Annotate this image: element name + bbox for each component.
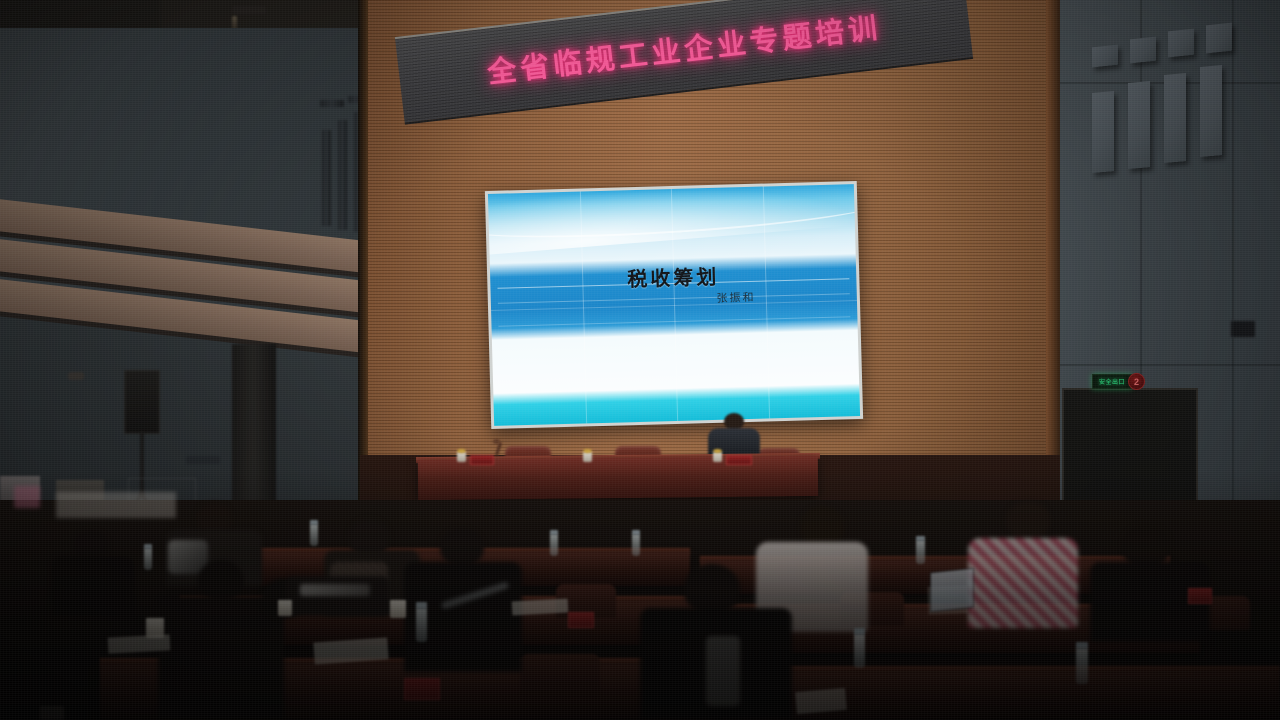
paper-cup-3	[278, 600, 292, 616]
wall-outlet-panel[interactable]	[186, 456, 220, 464]
attendee-sweater-text	[300, 584, 370, 596]
relief-panel-tall-3	[1164, 73, 1186, 163]
relief-panel-top-2	[1130, 37, 1156, 64]
paper-cup-2	[390, 600, 406, 618]
attendee-head-pink	[1006, 500, 1050, 540]
exit-sign-label: 安全出口	[1099, 377, 1125, 386]
head-table-cup-lid-2	[583, 449, 592, 453]
seatback-5	[520, 654, 600, 698]
attendee-body-pink	[968, 538, 1078, 628]
desk-placard-2	[404, 678, 440, 700]
relief-panel-top-3	[1168, 29, 1194, 58]
water-bottle-8	[416, 608, 427, 642]
loudspeaker-box	[124, 370, 160, 434]
water-bottle-cap-5	[916, 536, 925, 541]
exit-sign: 安全出口	[1092, 374, 1132, 389]
notepad-2	[108, 634, 171, 653]
slide-surface: 税收筹划 张振和	[488, 184, 860, 426]
water-bottle-4	[632, 534, 640, 556]
head-table-cup-2	[583, 452, 592, 462]
notepad-3	[512, 599, 569, 616]
attendee-foreground-shirt	[706, 636, 740, 706]
desk-placard-1	[568, 612, 594, 628]
notepad-4	[795, 688, 847, 714]
desk-placard-3	[1188, 588, 1212, 604]
wall-slat-cross-1	[320, 100, 344, 107]
water-bottle-cap-4	[632, 530, 640, 535]
wall-slat-1	[322, 130, 331, 226]
water-bottle-cap-2	[310, 520, 318, 525]
head-table-cup-1	[457, 452, 466, 462]
water-bottle-cap-1	[144, 544, 152, 549]
water-bottle-6	[854, 634, 865, 668]
water-bottle-1	[144, 548, 152, 570]
attendee-head-white-shirt	[800, 506, 844, 546]
pink-item-on-back-counter	[14, 486, 40, 508]
water-bottle-3	[550, 534, 558, 556]
water-bottle-cap-3	[550, 530, 558, 535]
water-bottle-5	[916, 540, 925, 564]
attendee-body-1	[52, 556, 134, 616]
relief-panel-tall-2	[1128, 81, 1150, 169]
relief-panel-tall-1	[1092, 91, 1114, 173]
laptop-screen[interactable]	[930, 568, 974, 613]
head-table-placard-1	[470, 455, 494, 465]
relief-panel-top-1	[1092, 45, 1118, 68]
head-table-cup-lid-3	[713, 449, 722, 453]
water-bottle-2	[310, 524, 318, 546]
attendee-body-3	[158, 596, 284, 720]
wall-control-box[interactable]	[1230, 320, 1256, 338]
water-bottle-cap-8	[416, 602, 427, 609]
head-table-cup-lid-1	[457, 449, 466, 453]
relief-panel-top-4	[1206, 23, 1232, 54]
wall-mounted-light	[68, 372, 84, 380]
attendee-head-5	[440, 528, 484, 566]
water-bottle-7	[1076, 648, 1088, 684]
right-wall-seam-h2	[1060, 364, 1280, 366]
attendee-sweater-6	[286, 576, 390, 616]
ceiling-vent	[232, 6, 266, 14]
attendee-head-3	[198, 560, 244, 600]
white-curtain-strip	[56, 492, 176, 518]
head-table-placard-2	[726, 455, 752, 465]
head-table-cup-3	[713, 452, 722, 462]
room-number-badge: 2	[1128, 373, 1145, 390]
attendee-head-foreground	[684, 564, 740, 614]
water-bottle-cap-7	[1076, 642, 1088, 649]
relief-panel-tall-4	[1200, 65, 1222, 157]
water-bottle-cap-6	[854, 628, 865, 635]
wall-slat-2	[338, 120, 347, 230]
microphone-head[interactable]	[493, 439, 500, 444]
projection-screen: 税收筹划 张振和	[485, 181, 863, 429]
conference-hall-photo: 全省临规工业企业专题培训 税收筹划 张振和	[0, 0, 1280, 720]
foreground-object	[40, 706, 64, 720]
